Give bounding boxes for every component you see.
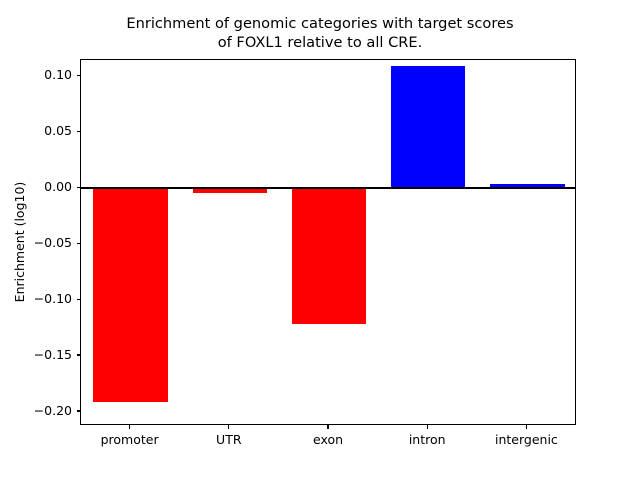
bar-intron xyxy=(391,66,465,188)
zero-reference-line xyxy=(81,187,575,189)
y-tick-mark xyxy=(77,243,81,244)
y-tick-label: 0.00 xyxy=(0,181,72,194)
y-tick-label: 0.05 xyxy=(0,125,72,138)
x-tick-mark xyxy=(427,425,428,429)
y-tick-label: −0.05 xyxy=(0,237,72,250)
plot-area xyxy=(80,59,576,425)
bars-layer xyxy=(81,60,575,424)
y-tick-mark xyxy=(77,410,81,411)
bar-promoter xyxy=(93,188,167,402)
x-tick-mark xyxy=(526,425,527,429)
y-tick-mark xyxy=(77,354,81,355)
bar-exon xyxy=(292,188,366,323)
y-axis-label: Enrichment (log10) xyxy=(14,59,27,425)
y-tick-label: −0.15 xyxy=(0,349,72,362)
y-tick-mark xyxy=(77,131,81,132)
x-tick-label-intergenic: intergenic xyxy=(466,434,586,447)
x-tick-mark xyxy=(129,425,130,429)
chart-title: Enrichment of genomic categories with ta… xyxy=(0,14,640,52)
figure-canvas: Enrichment of genomic categories with ta… xyxy=(0,0,640,480)
y-tick-mark xyxy=(77,299,81,300)
y-tick-label: 0.10 xyxy=(0,69,72,82)
y-tick-label: −0.20 xyxy=(0,405,72,418)
y-tick-label: −0.10 xyxy=(0,293,72,306)
y-tick-mark xyxy=(77,75,81,76)
y-tick-mark xyxy=(77,187,81,188)
x-tick-mark xyxy=(228,425,229,429)
x-tick-mark xyxy=(327,425,328,429)
